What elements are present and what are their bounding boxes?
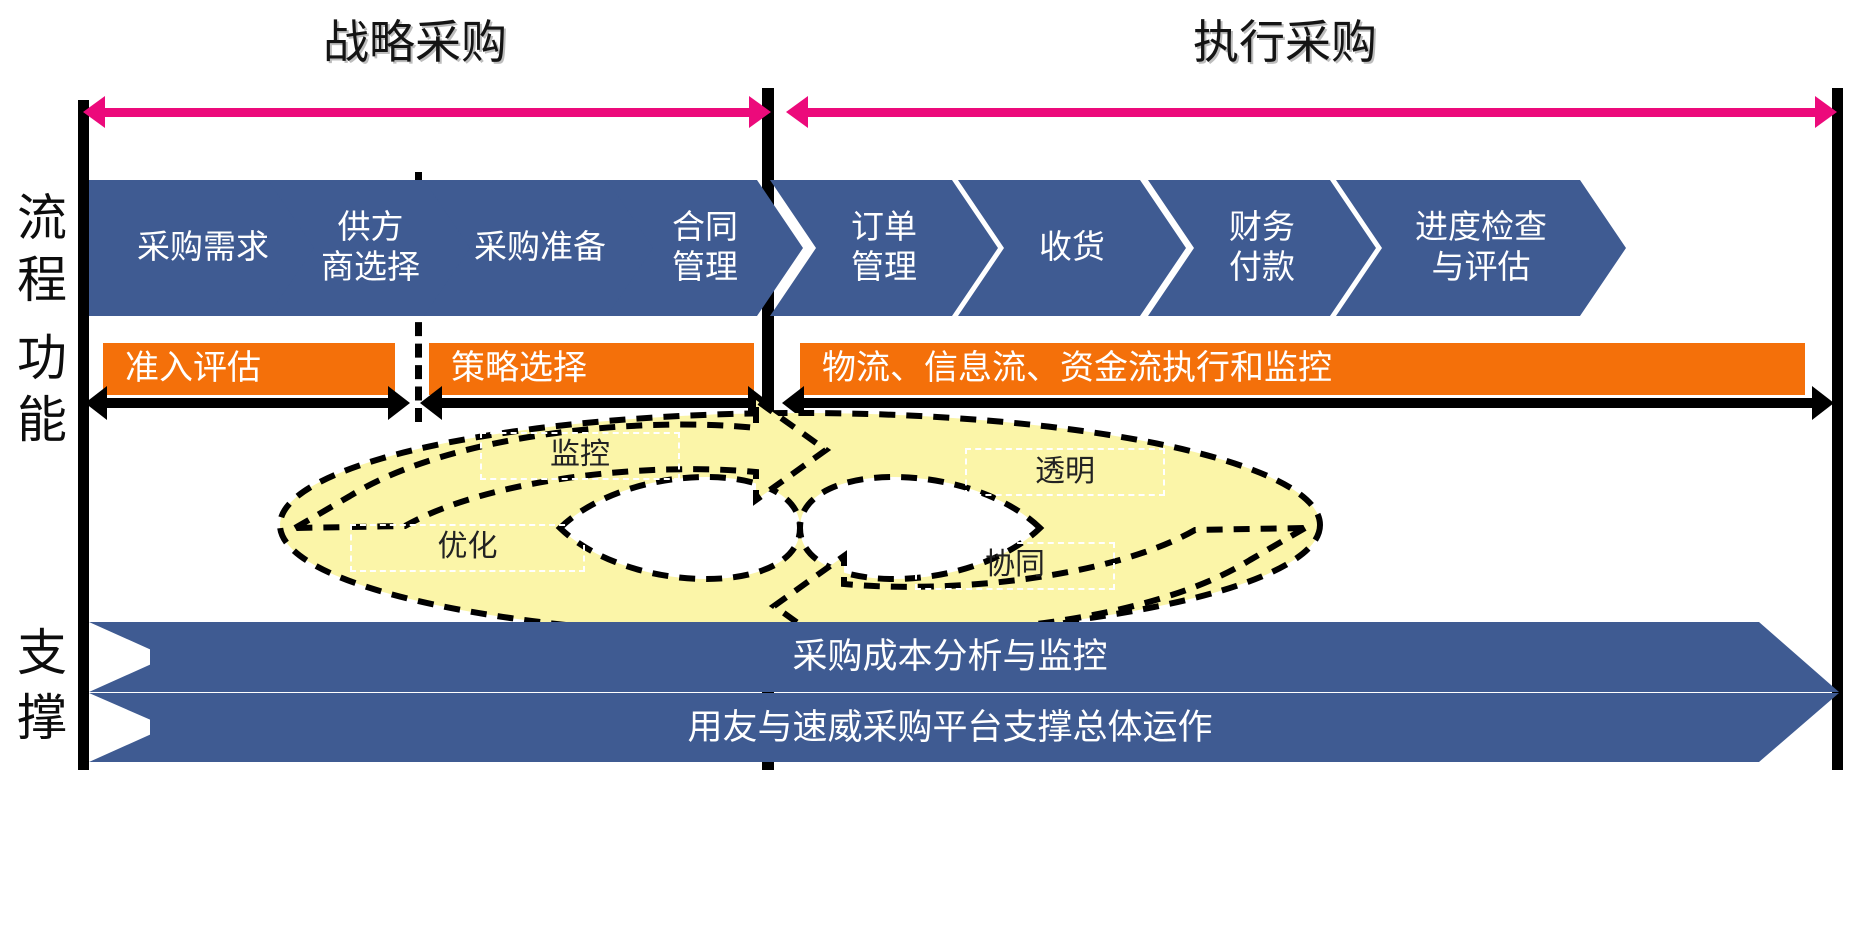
row-label-function-char2: 能: [0, 392, 84, 448]
process-step-label: 订单 管理: [845, 208, 923, 288]
support-bar-platform[interactable]: 用友与速威采购平台支撑总体运作: [150, 693, 1750, 762]
function-bar-entry-assessment[interactable]: 准入评估: [103, 343, 395, 395]
cycle-diagram: [200, 400, 1400, 640]
row-label-support-char2: 撑: [0, 690, 84, 746]
row-label-process-char1: 流: [0, 190, 84, 246]
process-step-label: 财务 付款: [1223, 208, 1301, 288]
function-bar-label: 物流、信息流、资金流执行和监控: [800, 349, 1332, 389]
process-step-label: 采购需求: [131, 228, 275, 268]
row-label-support-char1: 支: [0, 625, 84, 681]
process-step-label: 合同 管理: [666, 208, 744, 288]
process-step-label: 进度检查 与评估: [1409, 208, 1553, 288]
function-bar-label: 策略选择: [429, 349, 587, 389]
row-label-function-char1: 功: [0, 330, 84, 386]
procurement-process-diagram: 战略采购 执行采购 流 程 功 能 支 撑 采购需求 供方 商选择 采购准备 合…: [0, 0, 1861, 944]
support-bar-label: 用友与速威采购平台支撑总体运作: [687, 707, 1212, 749]
cycle-label-optimize: 优化: [350, 530, 585, 564]
phase-title-strategic: 战略采购: [190, 20, 640, 66]
cycle-label-collaborate: 协同: [915, 548, 1115, 582]
cycle-label-monitor: 监控: [480, 438, 680, 472]
cycle-label-transparent: 透明: [965, 455, 1165, 489]
support-bar-label: 采购成本分析与监控: [792, 636, 1107, 678]
function-bar-label: 准入评估: [103, 349, 261, 389]
process-step-label: 供方 商选择: [315, 208, 426, 288]
process-step-order[interactable]: 订单 管理: [770, 180, 998, 316]
function-bar-strategy-choice[interactable]: 策略选择: [429, 343, 754, 395]
support-bar-cost-analysis[interactable]: 采购成本分析与监控: [150, 622, 1750, 692]
vertical-rule-left-boundary: [78, 100, 89, 770]
process-step-label: 采购准备: [468, 228, 612, 268]
row-label-process-char2: 程: [0, 252, 84, 308]
phase-title-execution: 执行采购: [1060, 20, 1510, 66]
process-step-review[interactable]: 进度检查 与评估: [1336, 180, 1626, 316]
function-bar-flow-execution[interactable]: 物流、信息流、资金流执行和监控: [800, 343, 1805, 395]
process-step-label: 收货: [1033, 228, 1111, 268]
